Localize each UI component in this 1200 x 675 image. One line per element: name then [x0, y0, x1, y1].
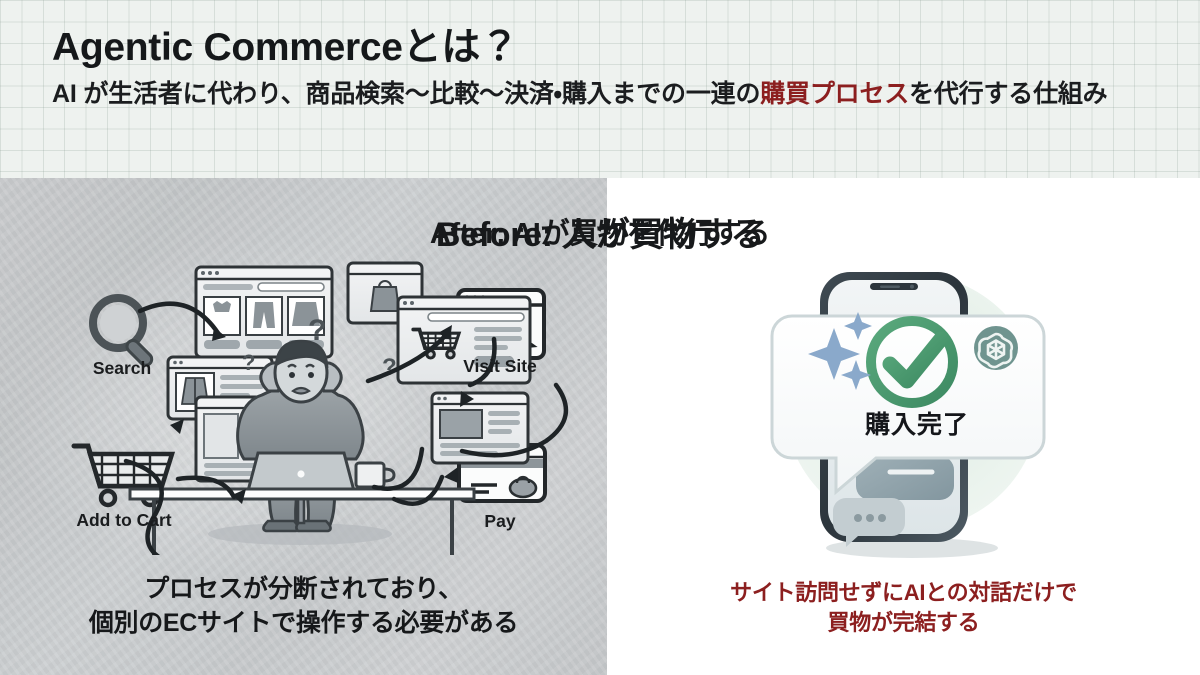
panel-after-caption: サイト訪問せずにAIとの対話だけで 買物が完結する — [607, 578, 1200, 638]
caption-line-1: プロセスが分断されており、 — [0, 572, 607, 606]
caption-line-2: 個別のECサイトで操作する必要がある — [0, 606, 607, 640]
subtitle-segment-1: AI が生活者に代わり、商品検索〜比較〜決済・購入までの一連の — [52, 80, 760, 108]
subtitle-highlight: 購買プロセス — [760, 80, 909, 108]
panel-after-heading: After: AIが買物を代行する — [0, 210, 1200, 252]
step-label-add-to-cart: Add to Cart — [62, 510, 186, 531]
slide-root: Agentic Commerceとは？ AI が生活者に代わり、商品検索〜比較〜… — [0, 0, 1200, 675]
question-mark: ? — [242, 350, 255, 375]
page-title: Agentic Commerceとは？ — [52, 27, 1170, 69]
slide-header: Agentic Commerceとは？ AI が生活者に代わり、商品検索〜比較〜… — [0, 0, 1200, 178]
subtitle-segment-2: を代行する仕組み — [909, 80, 1107, 108]
frustrated-shopper-illustration: ? ? ? — [0, 245, 607, 555]
purchase-complete-text: 購入完了 — [855, 405, 979, 441]
page-subtitle: AI が生活者に代わり、商品検索〜比較〜決済・購入までの一連の購買プロセスを代行… — [52, 78, 1162, 112]
step-label-search: Search — [74, 358, 170, 379]
step-label-visit-site: Visit Site — [446, 356, 554, 377]
coffee-mug — [356, 463, 394, 487]
step-label-pay: Pay — [466, 511, 534, 532]
header-text-block: Agentic Commerceとは？ AI が生活者に代わり、商品検索〜比較〜… — [52, 27, 1170, 112]
openai-logo-icon — [974, 326, 1018, 370]
panel-before-caption: プロセスが分断されており、 個別のECサイトで操作する必要がある — [0, 572, 607, 640]
caption-line-1: サイト訪問せずにAIとの対話だけで — [607, 578, 1200, 608]
caption-line-2: 買物が完結する — [607, 608, 1200, 638]
